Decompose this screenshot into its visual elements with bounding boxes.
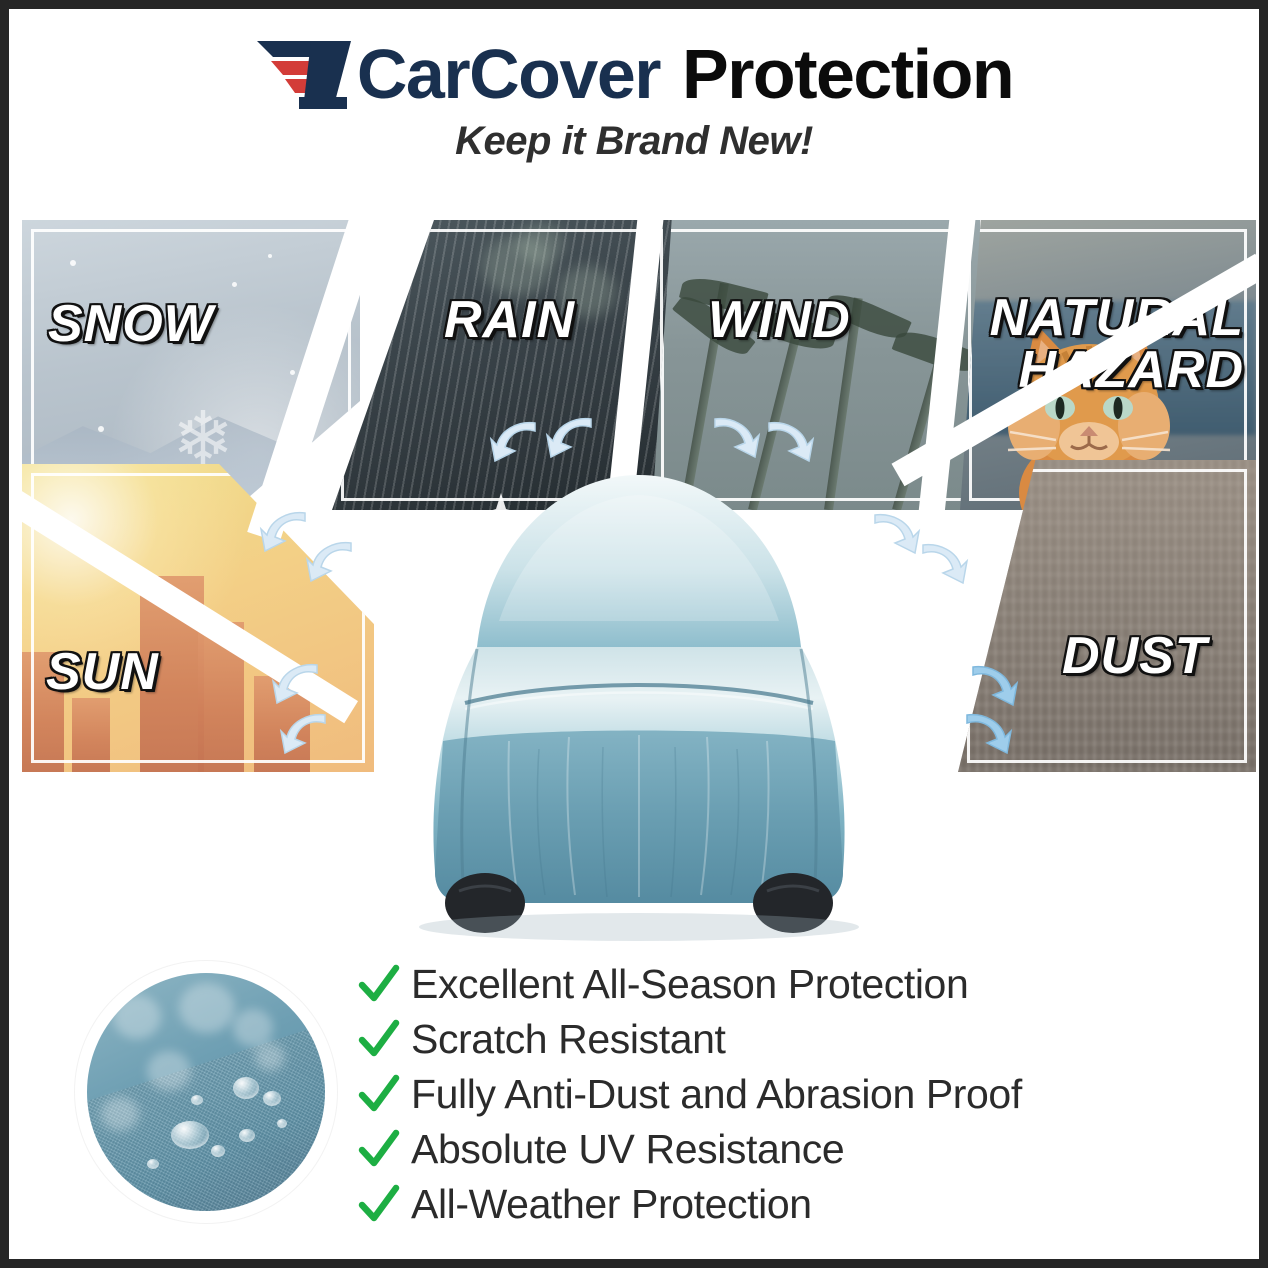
water-droplet: [147, 1159, 159, 1169]
panel-label-sun: SUN: [46, 646, 159, 698]
water-droplet: [263, 1091, 281, 1106]
water-beading-fabric-swatch-icon: [75, 961, 337, 1223]
list-item: All-Weather Protection: [357, 1177, 1217, 1232]
panel-label-rain: RAIN: [444, 294, 575, 346]
snow-particle: [70, 260, 76, 266]
panel-label-dust: DUST: [1062, 630, 1208, 682]
product-infographic: CarCover Protection Keep it Brand New! ❄…: [0, 0, 1268, 1268]
bokeh-highlight: [179, 983, 235, 1033]
check-icon: [357, 963, 401, 1007]
panel-label-wind: WIND: [708, 294, 851, 346]
foliage-blur: [518, 224, 564, 264]
bokeh-highlight: [113, 995, 161, 1039]
list-item-label: Fully Anti-Dust and Abrasion Proof: [411, 1074, 1022, 1115]
icarcover-wing-logo-icon: [255, 35, 359, 113]
water-droplet: [233, 1077, 259, 1099]
deflection-arrow-icon: [279, 709, 331, 757]
panel-label-snow: SNOW: [48, 298, 214, 350]
water-droplet: [239, 1129, 255, 1142]
deflection-arrow-icon: [545, 413, 597, 461]
list-item-label: Absolute UV Resistance: [411, 1129, 844, 1170]
bokeh-highlight: [101, 1097, 139, 1131]
brand-lockup: CarCover Protection: [255, 35, 1013, 113]
building-shape: [198, 622, 244, 772]
deflection-arrow-icon: [305, 537, 357, 585]
panel-label-natural-hazard: NATURAL HAZARD: [972, 292, 1244, 396]
building-shape: [72, 698, 110, 772]
snow-particle: [290, 370, 295, 375]
deflection-arrow-icon: [763, 417, 815, 465]
list-item: Fully Anti-Dust and Abrasion Proof: [357, 1067, 1217, 1122]
brand-name-secondary: Protection: [682, 35, 1013, 113]
water-droplet: [277, 1119, 287, 1128]
bokeh-highlight: [233, 1009, 273, 1047]
fabric-swatch-image: [87, 973, 325, 1211]
check-icon: [357, 1073, 401, 1117]
list-item-label: Excellent All-Season Protection: [411, 964, 968, 1005]
deflection-arrow-icon: [259, 507, 311, 555]
check-icon: [357, 1183, 401, 1227]
benefits-list: Excellent All-Season Protection Scratch …: [357, 957, 1217, 1232]
snow-particle: [232, 282, 237, 287]
deflection-arrow-icon: [917, 539, 969, 587]
check-icon: [357, 1018, 401, 1062]
deflection-arrow-icon: [967, 661, 1019, 709]
deflection-arrow-icon: [869, 509, 921, 557]
water-droplet: [171, 1121, 209, 1149]
snow-particle: [268, 254, 272, 258]
bokeh-highlight: [147, 1051, 191, 1091]
bokeh-highlight: [255, 1043, 285, 1071]
check-icon: [357, 1128, 401, 1172]
covered-car-front-view-icon: [339, 441, 939, 951]
list-item: Scratch Resistant: [357, 1012, 1217, 1067]
brand-name-primary: CarCover: [357, 35, 660, 113]
deflection-arrow-icon: [709, 413, 761, 461]
deflection-arrow-icon: [489, 417, 541, 465]
deflection-arrow-icon: [271, 659, 323, 707]
header: CarCover Protection Keep it Brand New!: [9, 35, 1259, 164]
deflection-arrow-icon: [961, 709, 1013, 757]
tagline: Keep it Brand New!: [455, 119, 813, 164]
list-item-label: All-Weather Protection: [411, 1184, 812, 1225]
list-item-label: Scratch Resistant: [411, 1019, 726, 1060]
snow-particle: [98, 426, 104, 432]
water-droplet: [191, 1095, 203, 1105]
list-item: Excellent All-Season Protection: [357, 957, 1217, 1012]
list-item: Absolute UV Resistance: [357, 1122, 1217, 1177]
water-droplet: [211, 1145, 225, 1157]
